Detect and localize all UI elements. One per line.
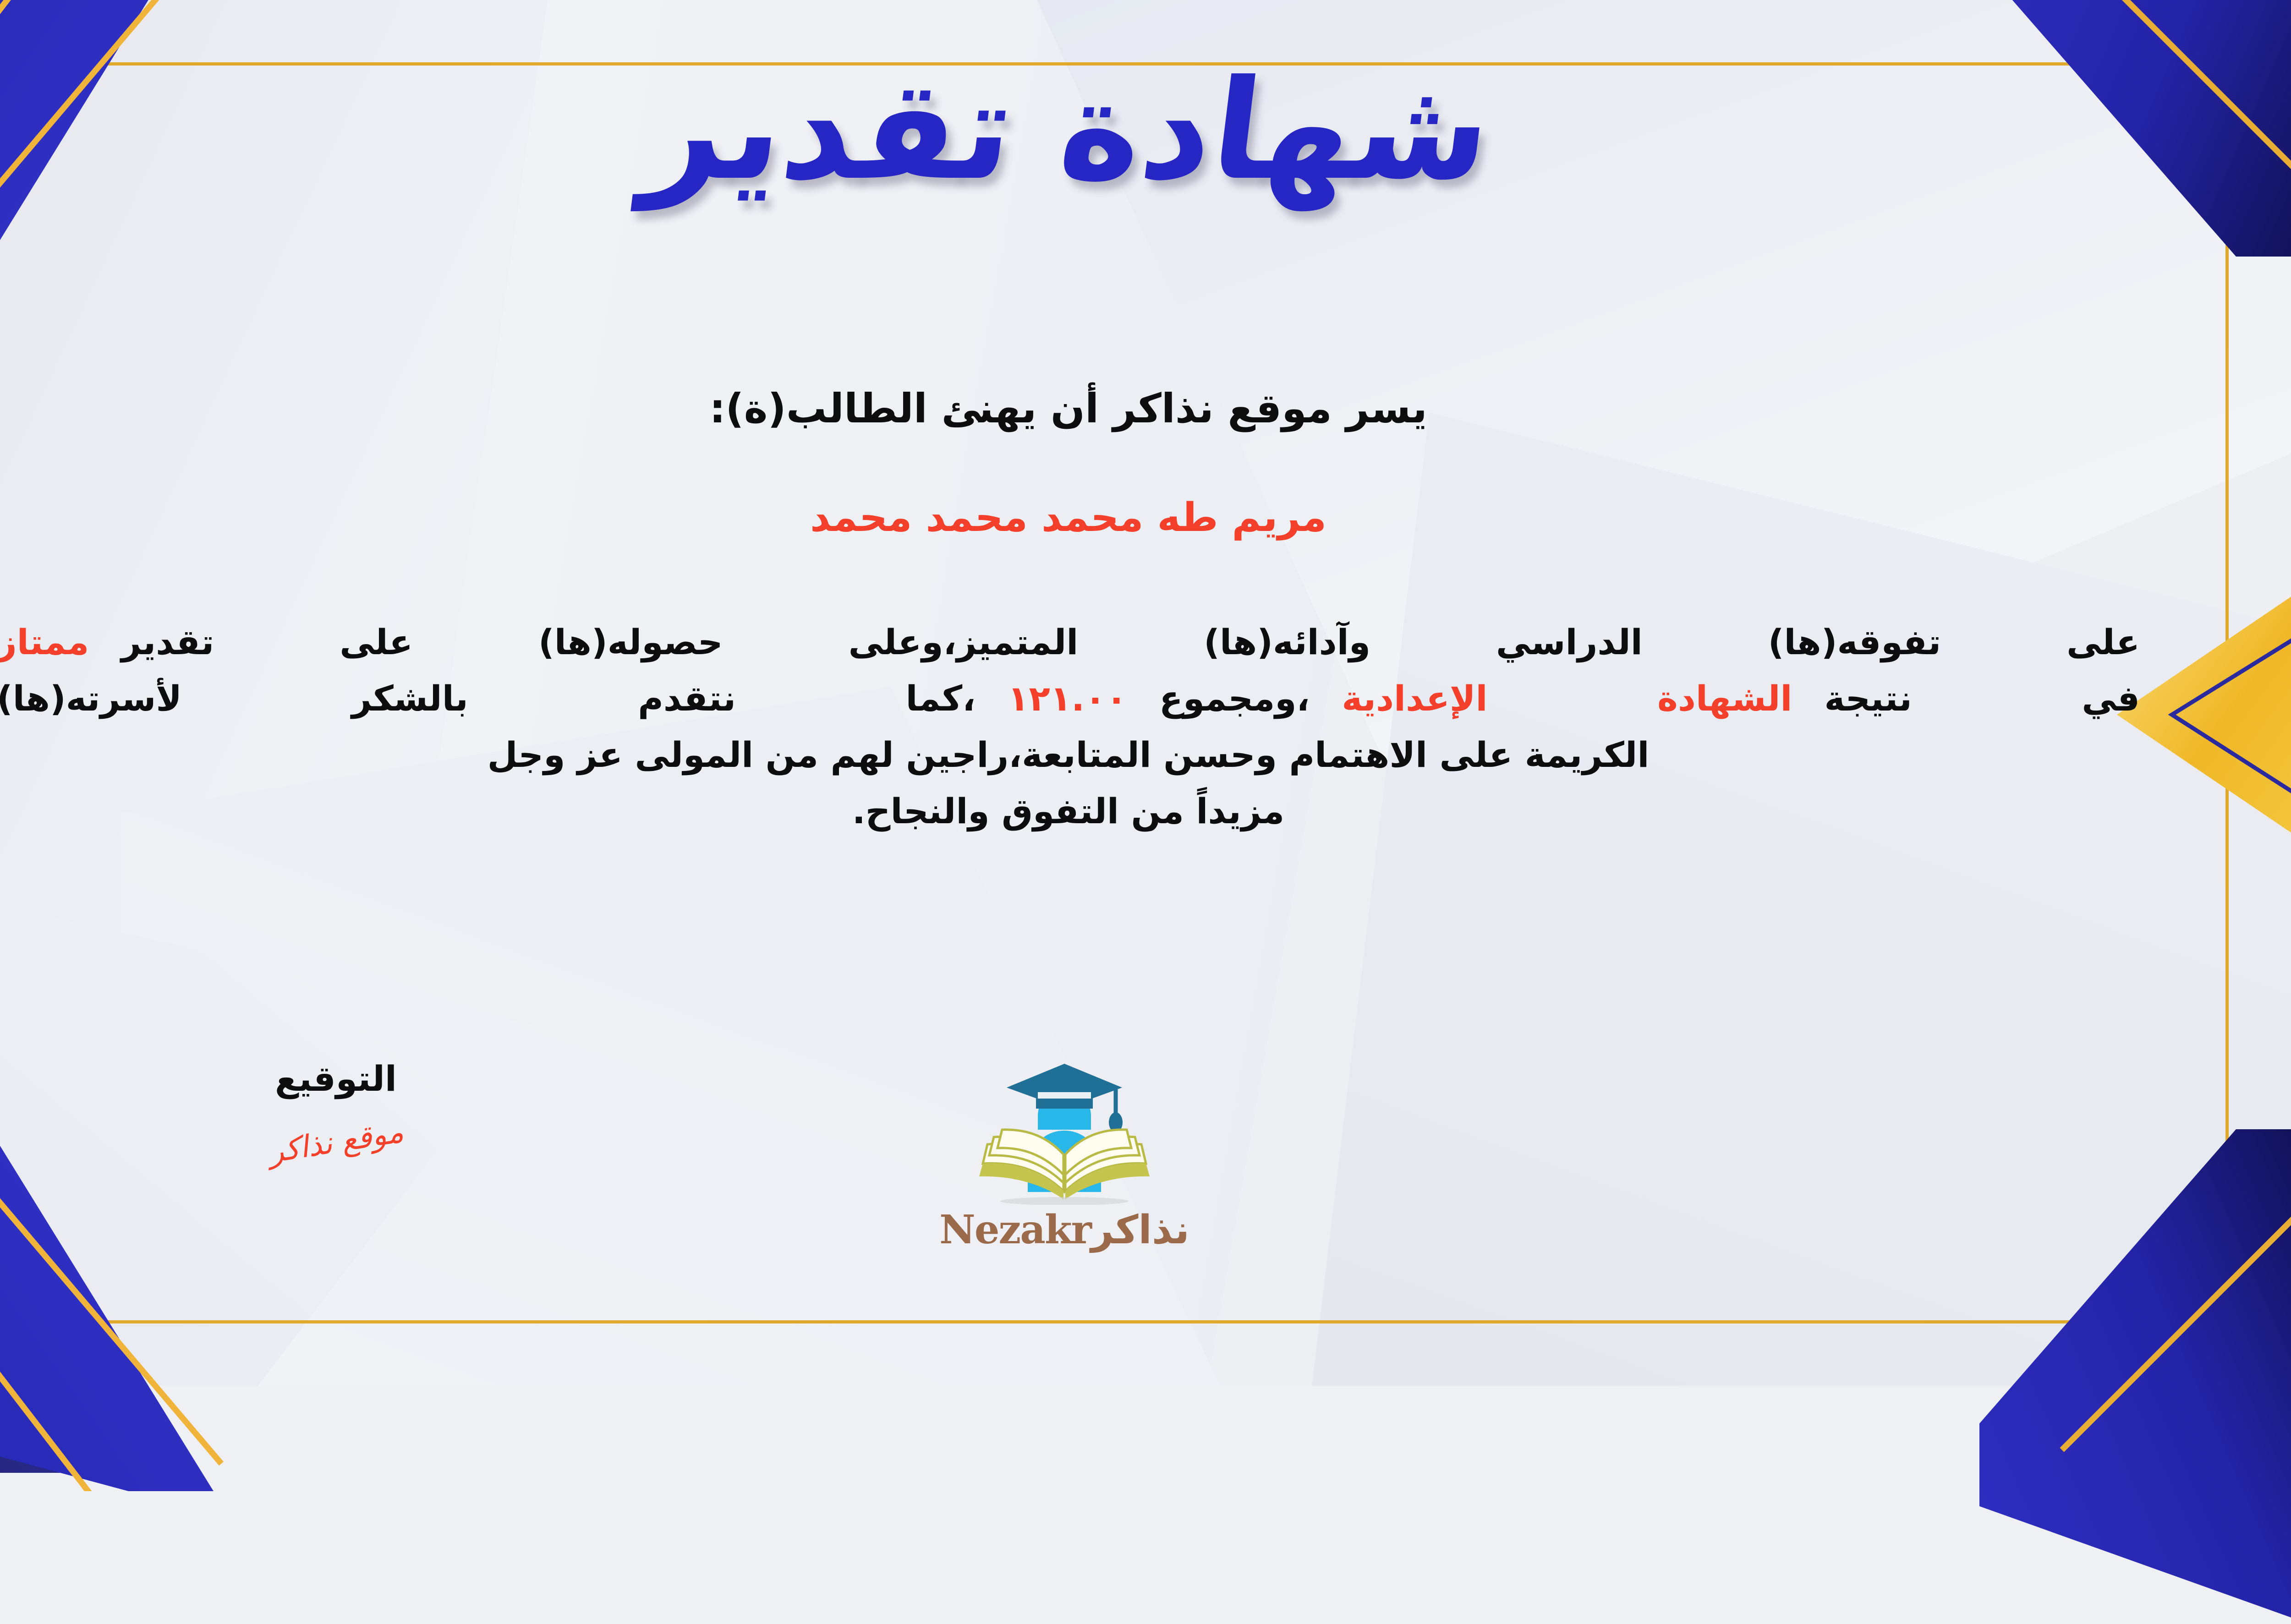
body-line-1-text: على تفوقه(ها) الدراسي وآدائه(ها) المتميز… [121,622,2140,662]
brand-wordmark: Nezakrنذاكر [895,1207,1234,1253]
page-title: شهادة تقدير [0,55,2291,206]
brand-arabic: نذاكر [1091,1207,1189,1253]
body-line-3: الكريمة على الاهتمام وحسن المتابعة،راجين… [0,727,2140,783]
signature-mark: موقع نذاكر [266,1114,406,1170]
body-line-2: في نتيجةالشهادة الإعدادية،ومجموع١٢١.٠٠،ك… [0,670,2140,727]
brand-logo: Nezakrنذاكر [895,1054,1234,1253]
exam-name: الشهادة الإعدادية [1342,678,1792,719]
signature-block: التوقيع موقع نذاكر [194,1058,478,1159]
brand-latin: Nezakr [939,1207,1091,1253]
greeting-line: يسر موقع نذاكر أن يهنئ الطالب(ة): [0,385,2291,432]
grade-value: ممتاز [0,622,89,662]
body-line-1: على تفوقه(ها) الدراسي وآدائه(ها) المتميز… [0,614,2140,670]
signature-label: التوقيع [194,1058,478,1099]
body-line-2-suffix: ،كما نتقدم بالشكر لأسرته(ها) [0,678,976,719]
body-line-2-mid: ،ومجموع [1159,678,1310,719]
body-line-4: مزيداً من التفوق والنجاح. [0,783,2140,839]
graduate-book-icon [959,1054,1170,1205]
student-name: مريم طه محمد محمد محمد [0,495,2291,541]
certificate-body: على تفوقه(ها) الدراسي وآدائه(ها) المتميز… [0,614,2140,839]
total-score: ١٢١.٠٠ [1008,678,1127,719]
body-line-2-prefix: في نتيجة [1824,678,2140,719]
